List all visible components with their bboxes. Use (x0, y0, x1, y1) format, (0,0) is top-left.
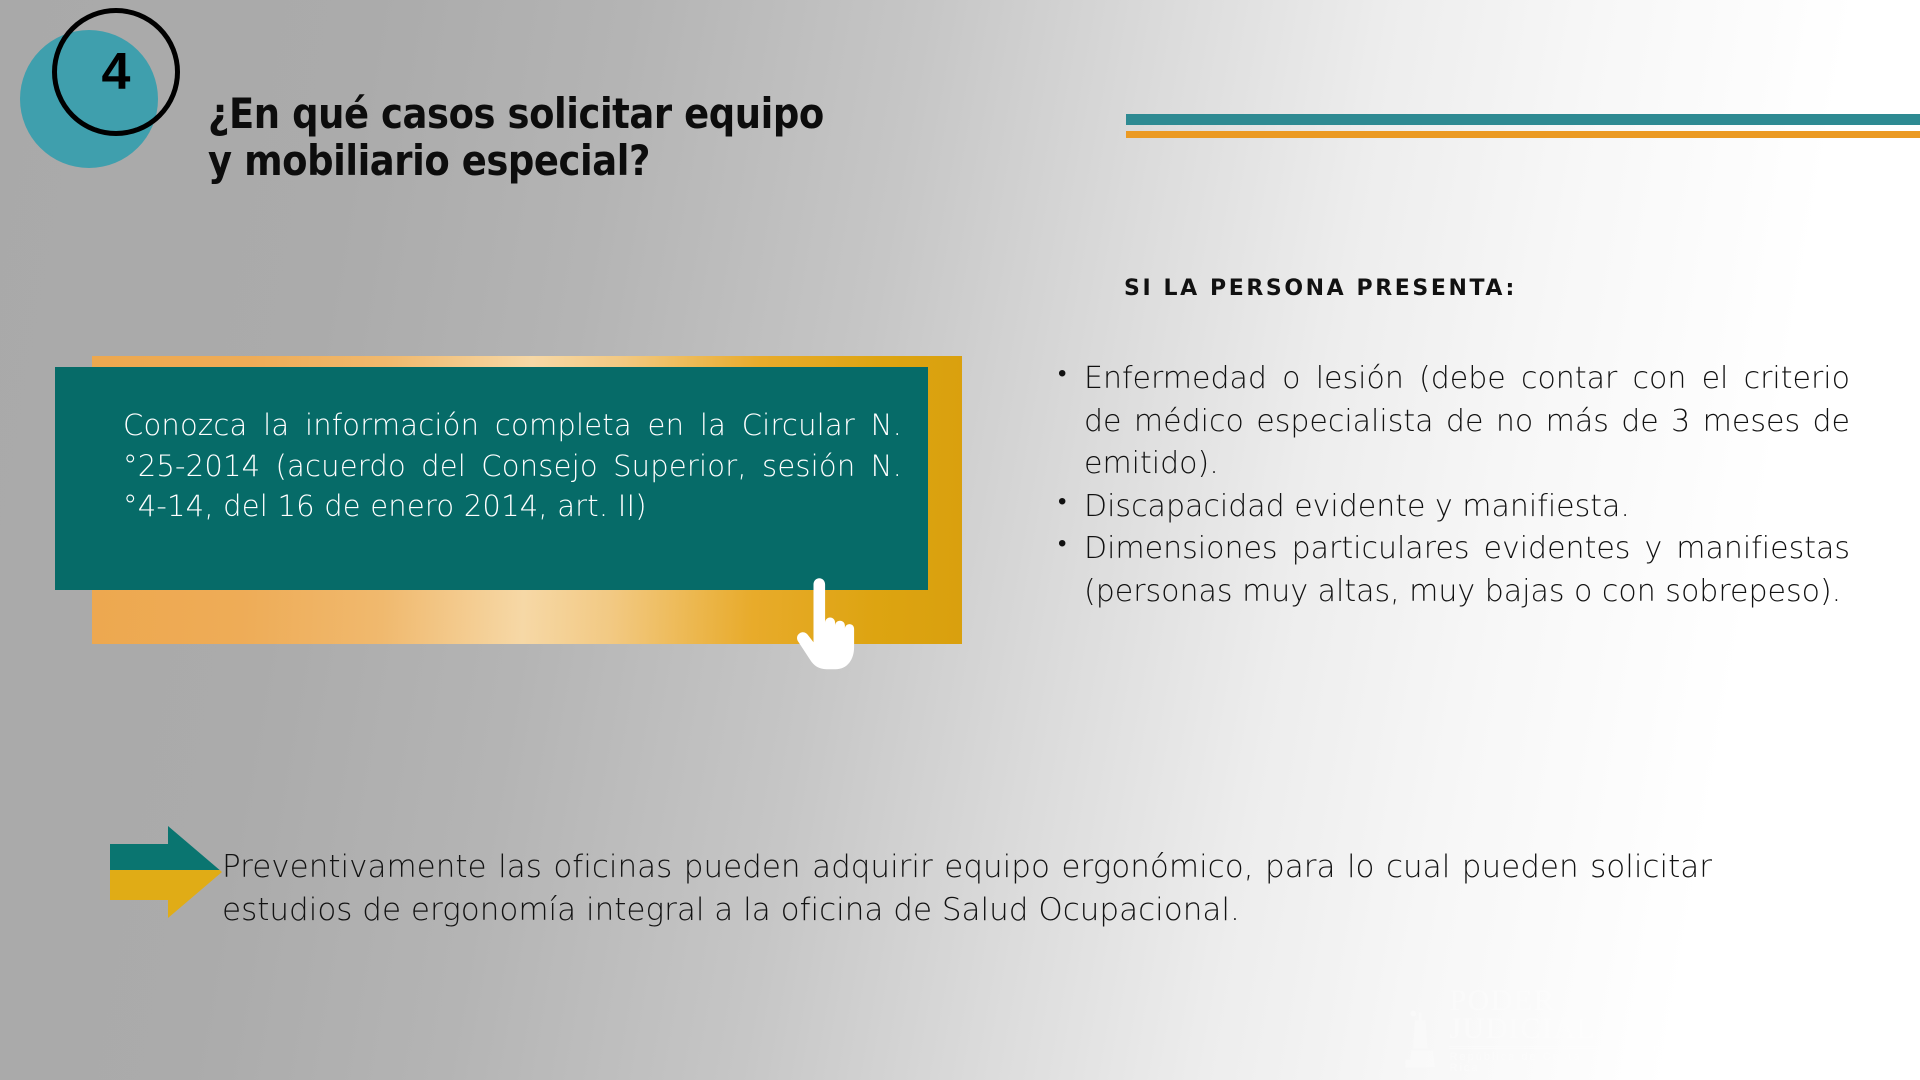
list-item: Discapacidad evidente y manifiesta. (1050, 486, 1850, 529)
right-arrow-icon (110, 826, 222, 926)
preventive-note-text: Preventivamente las oficinas pueden adqu… (222, 846, 1712, 932)
poder-judicial-logo: PODER JUDICIAL República de Costa Rica (1400, 987, 1607, 1073)
gestion-humana-wordmark: DIRECCIÓN DE GESTIÓN HUMANA (1635, 1044, 1792, 1067)
list-item: Enfermedad o lesión (debe contar con el … (1050, 358, 1850, 486)
header-rule-gold (1126, 131, 1920, 138)
page-title-line-2: y mobiliario especial? (208, 137, 1000, 184)
pointing-hand-cursor-icon[interactable] (795, 578, 855, 670)
header-rule-teal (1126, 114, 1920, 125)
salud-ocupacional-logo: Salud Ocupacional (1820, 1009, 1920, 1051)
conditions-list: Enfermedad o lesión (debe contar con el … (1050, 358, 1850, 614)
page-title-line-1: ¿En qué casos solicitar equipo (208, 90, 1000, 137)
footer-logos: PODER JUDICIAL República de Costa Rica D… (1400, 980, 1920, 1080)
slide-canvas: 4 ¿En qué casos solicitar equipo y mobil… (0, 0, 1920, 1080)
poder-line-3: República de Costa Rica (1449, 1046, 1607, 1073)
conditions-heading: SI LA PERSONA PRESENTA: (1124, 276, 1517, 301)
salud-line-1: Salud (1820, 1009, 1920, 1035)
list-item: Dimensiones particulares evidentes y man… (1050, 528, 1850, 613)
page-title: ¿En qué casos solicitar equipo y mobilia… (208, 90, 1000, 184)
salud-line-2: Ocupacional (1820, 1035, 1920, 1051)
callout-teal-panel: Conozca la información completa en la Ci… (55, 367, 928, 590)
badge-number-label: 4 (52, 8, 180, 136)
poder-line-2: JUDICIAL (1449, 1015, 1607, 1043)
step-number-badge: 4 (20, 8, 190, 173)
callout-text: Conozca la información completa en la Ci… (69, 405, 902, 527)
gestion-humana-logo: DIRECCIÓN DE GESTIÓN HUMANA (1635, 993, 1792, 1067)
poder-line-1: PODER (1449, 987, 1607, 1015)
human-figure-icon (1687, 993, 1741, 1039)
poder-judicial-wordmark: PODER JUDICIAL República de Costa Rica (1449, 987, 1607, 1073)
justice-figure-icon (1400, 1007, 1441, 1073)
